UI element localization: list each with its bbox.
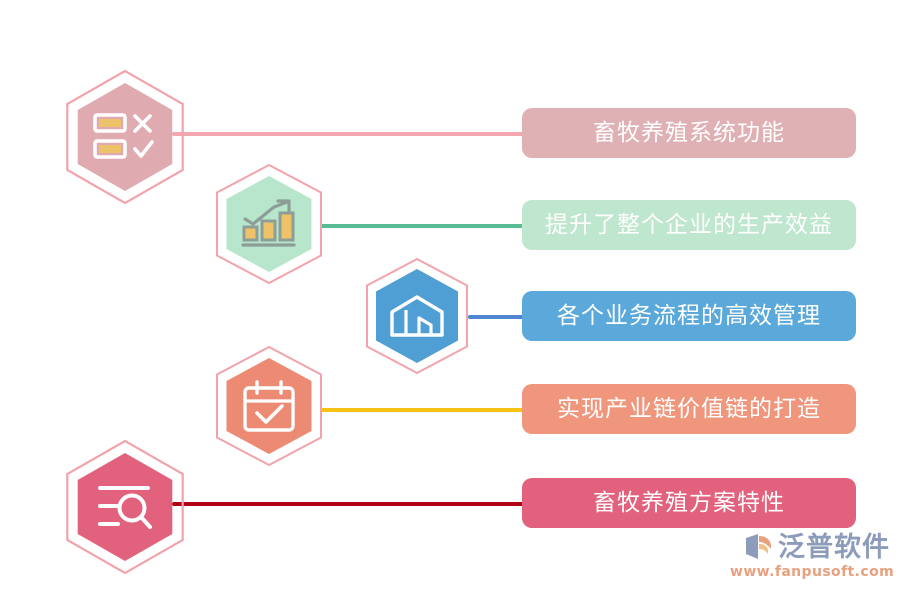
checklist-cross-check-icon — [62, 68, 188, 206]
label-pill-1-text: 畜牧养殖系统功能 — [593, 122, 785, 145]
calendar-check-icon — [212, 344, 326, 468]
growth-bar-chart-icon — [212, 162, 326, 286]
label-pill-3[interactable]: 各个业务流程的高效管理 — [522, 291, 856, 341]
watermark-url: www.fanpusoft.com — [730, 565, 890, 579]
document-search-icon — [62, 438, 188, 576]
hex-badge-3[interactable] — [362, 256, 472, 376]
watermark: 泛普软件 www.fanpusoft.com — [730, 532, 890, 594]
barn-warehouse-icon — [362, 256, 472, 376]
label-pill-5[interactable]: 畜牧养殖方案特性 — [522, 478, 856, 528]
label-pill-5-text: 畜牧养殖方案特性 — [593, 492, 785, 515]
hex-badge-1[interactable] — [62, 68, 188, 206]
label-pill-1[interactable]: 畜牧养殖系统功能 — [522, 108, 856, 158]
watermark-brand-row: 泛普软件 — [730, 532, 890, 562]
label-pill-4-text: 实现产业链价值链的打造 — [557, 398, 821, 421]
fanpu-logo-icon — [742, 532, 774, 562]
connector-line-1 — [172, 132, 528, 136]
watermark-brand-name: 泛普软件 — [778, 534, 890, 561]
label-pill-4[interactable]: 实现产业链价值链的打造 — [522, 384, 856, 434]
hex-badge-4[interactable] — [212, 344, 326, 468]
hex-badge-2[interactable] — [212, 162, 326, 286]
label-pill-3-text: 各个业务流程的高效管理 — [557, 305, 821, 328]
connector-line-3 — [468, 315, 528, 319]
label-pill-2-text: 提升了整个企业的生产效益 — [545, 214, 833, 237]
connector-line-2 — [320, 224, 528, 228]
label-pill-2[interactable]: 提升了整个企业的生产效益 — [522, 200, 856, 250]
connector-line-5 — [172, 502, 528, 506]
infographic-canvas: 畜牧养殖系统功能 提升了整个企业的生产效益 各个业务流程的高效管理 实现产业链价… — [0, 0, 900, 600]
connector-line-4 — [320, 408, 528, 412]
hex-badge-5[interactable] — [62, 438, 188, 576]
